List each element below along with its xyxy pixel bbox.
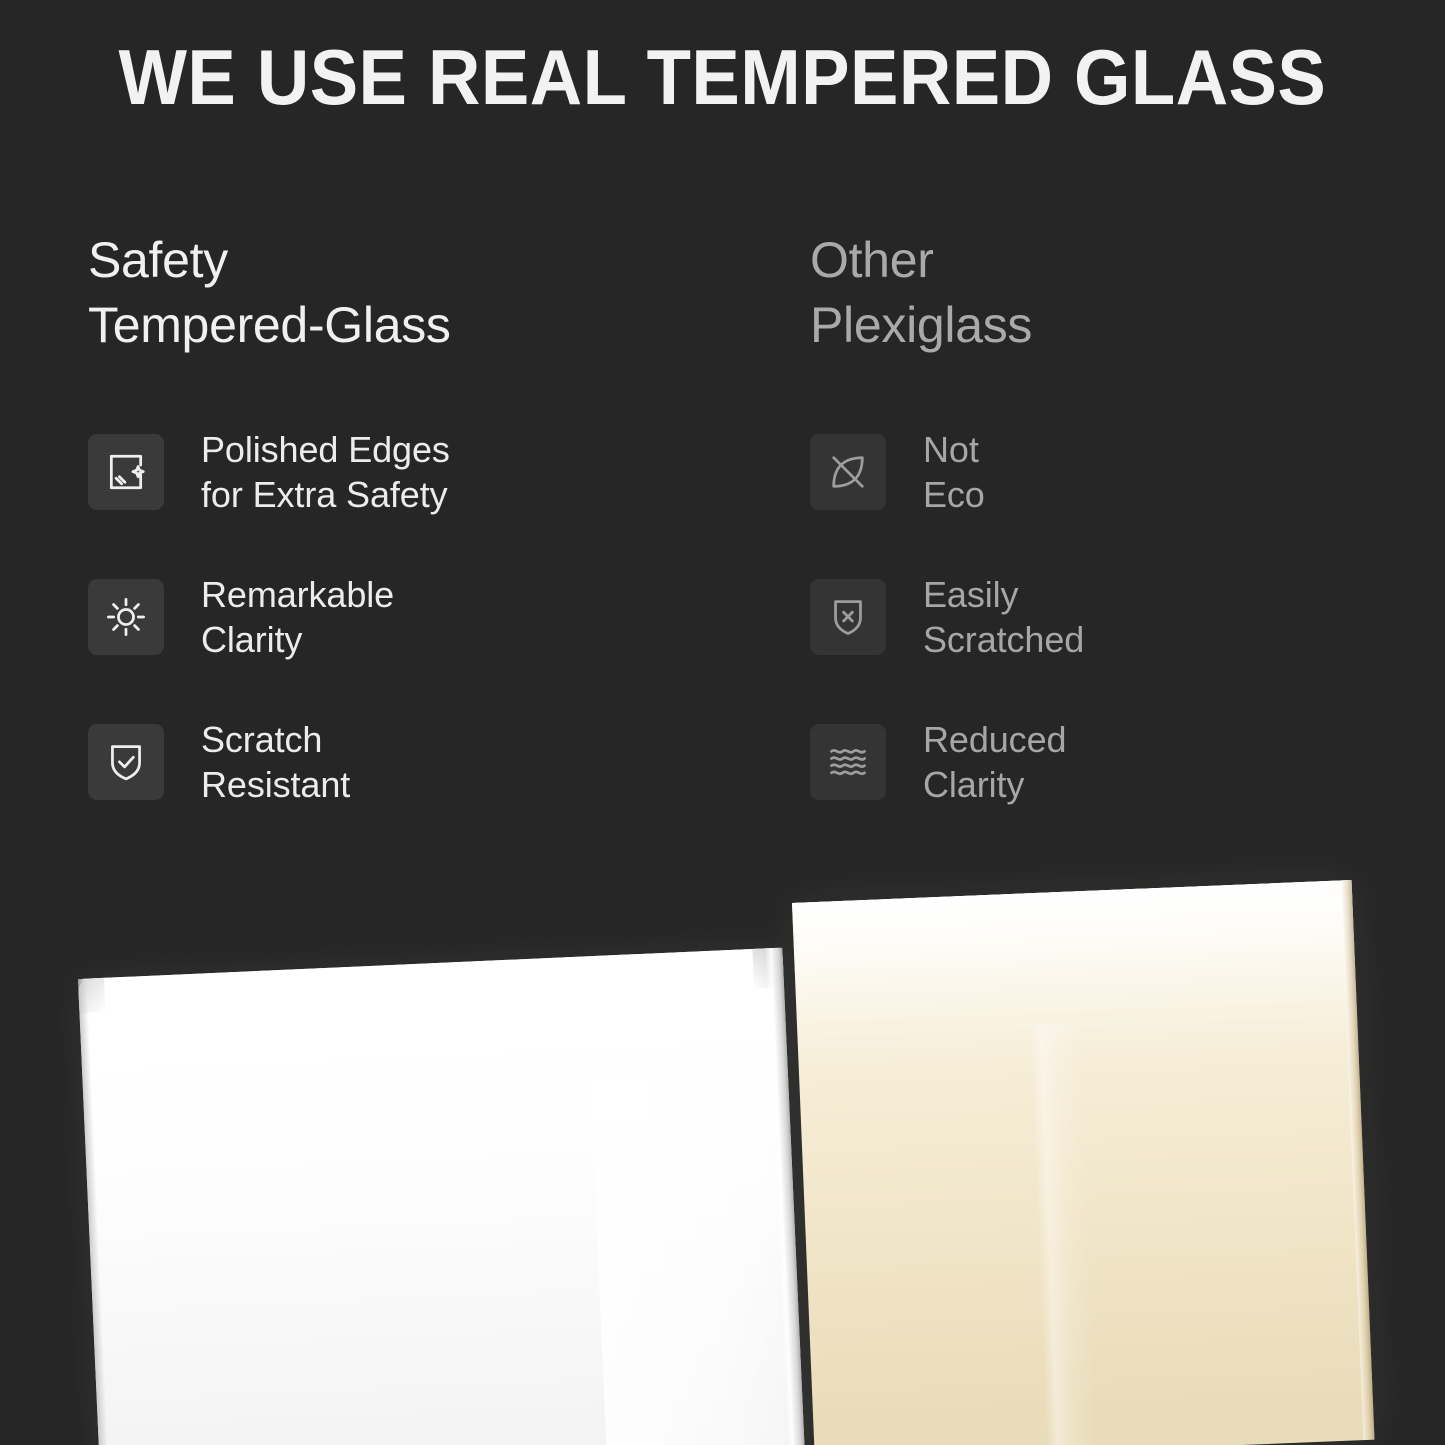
panel-left-edge [78, 979, 110, 1445]
panel-inner-reflection [590, 1070, 788, 1445]
feature-easily-scratched: Easily Scratched [810, 579, 1445, 655]
feature-label: Not Eco [923, 427, 985, 518]
leaf-crossed-out-icon [810, 434, 886, 510]
panel-top-highlight [78, 948, 783, 985]
page-title: WE USE REAL TEMPERED GLASS [119, 38, 1327, 116]
feature-polished-edges: Polished Edges for Extra Safety [88, 434, 810, 510]
shield-x-icon [810, 579, 886, 655]
panel-gloss-band [792, 880, 1358, 1073]
column-heading-left: Safety Tempered-Glass [88, 228, 810, 358]
wavy-lines-icon [810, 724, 886, 800]
sun-brightness-icon [88, 579, 164, 655]
feature-label: Scratch Resistant [201, 717, 350, 808]
feature-reduced-clarity: Reduced Clarity [810, 724, 1445, 800]
shield-check-icon [88, 724, 164, 800]
feature-label: Reduced Clarity [923, 717, 1066, 808]
plexiglass-panel [792, 880, 1374, 1445]
glass-pane-sparkle-icon [88, 434, 164, 510]
tempered-glass-panel [78, 948, 805, 1445]
feature-list-right: Not Eco Easily Scratched [810, 434, 1445, 800]
panel-reflection-edge [1029, 1023, 1099, 1445]
feature-remarkable-clarity: Remarkable Clarity [88, 579, 810, 655]
feature-scratch-resistant: Scratch Resistant [88, 724, 810, 800]
feature-label: Polished Edges for Extra Safety [201, 427, 450, 518]
column-plexiglass: Other Plexiglass Not Eco [810, 228, 1445, 848]
column-tempered-glass: Safety Tempered-Glass Polished Edges for… [0, 228, 810, 848]
feature-not-eco: Not Eco [810, 434, 1445, 510]
product-photo [0, 845, 1445, 1445]
title-container: WE USE REAL TEMPERED GLASS [0, 38, 1445, 116]
panel-right-bevel [1341, 880, 1375, 1440]
feature-label: Remarkable Clarity [201, 572, 394, 663]
comparison-columns: Safety Tempered-Glass Polished Edges for… [0, 228, 1445, 848]
column-heading-right: Other Plexiglass [810, 228, 1445, 358]
infographic-poster: WE USE REAL TEMPERED GLASS Safety Temper… [0, 0, 1445, 1445]
feature-list-left: Polished Edges for Extra Safety Remarkab… [88, 434, 810, 800]
feature-label: Easily Scratched [923, 572, 1084, 663]
panel-top-highlight [792, 880, 1352, 910]
